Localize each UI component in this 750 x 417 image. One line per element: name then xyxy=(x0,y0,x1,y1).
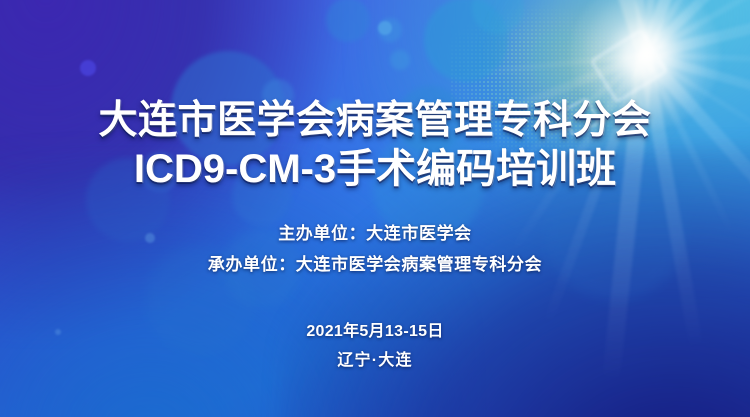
conference-banner: 大连市医学会病案管理专科分会 ICD9-CM-3手术编码培训班 主办单位：大连市… xyxy=(0,0,750,417)
organizer-block: 主办单位：大连市医学会 承办单位：大连市医学会病案管理专科分会 xyxy=(208,225,542,273)
banner-title-block: 大连市医学会病案管理专科分会 ICD9-CM-3手术编码培训班 xyxy=(98,101,651,189)
event-location: 辽宁·大连 xyxy=(306,353,443,369)
banner-content: 大连市医学会病案管理专科分会 ICD9-CM-3手术编码培训班 主办单位：大连市… xyxy=(0,0,750,417)
co-organizer-line: 承办单位：大连市医学会病案管理专科分会 xyxy=(208,256,542,273)
banner-title-line-1: 大连市医学会病案管理专科分会 xyxy=(98,101,651,140)
event-date: 2021年5月13-15日 xyxy=(306,324,443,340)
banner-title-line-2: ICD9-CM-3手术编码培训班 xyxy=(98,149,651,189)
event-details-block: 2021年5月13-15日 辽宁·大连 xyxy=(306,324,443,369)
host-organization-line: 主办单位：大连市医学会 xyxy=(208,225,542,242)
